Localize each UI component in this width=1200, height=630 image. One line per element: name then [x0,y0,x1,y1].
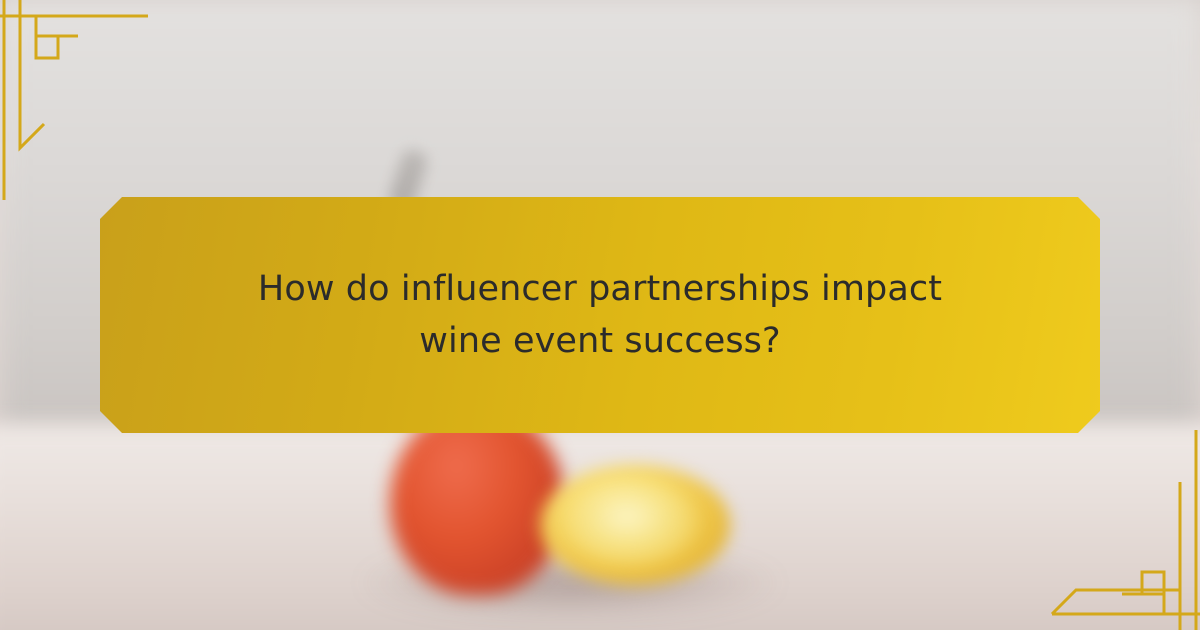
background-apple [390,405,565,595]
page-title: How do influencer partnerships impact wi… [220,263,980,367]
title-banner: How do influencer partnerships impact wi… [100,197,1100,433]
background-lemon-core [575,487,690,559]
share-card: How do influencer partnerships impact wi… [0,0,1200,630]
